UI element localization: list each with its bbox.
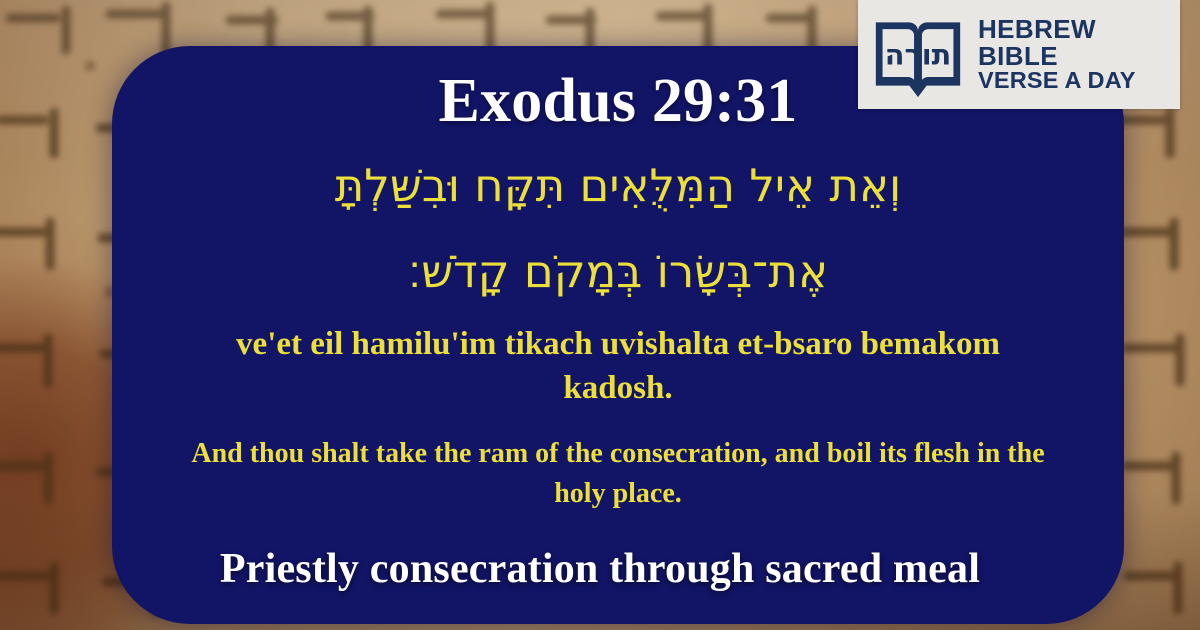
- english-translation-text: And thou shalt take the ram of the conse…: [156, 434, 1080, 514]
- verse-card-content: Exodus 29:31 וְאֵת אֵיל הַמִּלֻּאִים תִּ…: [112, 46, 1124, 624]
- hebrew-verse-line-1: וְאֵת אֵיל הַמִּלֻּאִים תִּקָּח וּבִשַּׁ…: [156, 154, 1080, 218]
- caption-theme: Priestly consecration through sacred mea…: [0, 548, 1200, 590]
- open-book-icon: תורה: [870, 9, 966, 101]
- svg-text:תורה: תורה: [885, 37, 952, 71]
- transliteration-text: ve'et eil hamilu'im tikach uvishalta et-…: [156, 322, 1080, 410]
- brand-line-1: HEBREW: [978, 16, 1136, 43]
- brand-line-3: VERSE A DAY: [978, 69, 1136, 93]
- verse-card-image: Exodus 29:31 וְאֵת אֵיל הַמִּלֻּאִים תִּ…: [0, 0, 1200, 630]
- brand-logo[interactable]: תורה HEBREW BIBLE VERSE A DAY: [858, 0, 1180, 109]
- hebrew-verse-line-2: אֶת־בְּשָׂרוֹ בְּמָקֹם קָדֹשׁ׃: [156, 240, 1080, 304]
- brand-line-2: BIBLE: [978, 43, 1136, 70]
- brand-logo-text: HEBREW BIBLE VERSE A DAY: [978, 16, 1136, 93]
- verse-card: Exodus 29:31 וְאֵת אֵיל הַמִּלֻּאִים תִּ…: [112, 46, 1124, 624]
